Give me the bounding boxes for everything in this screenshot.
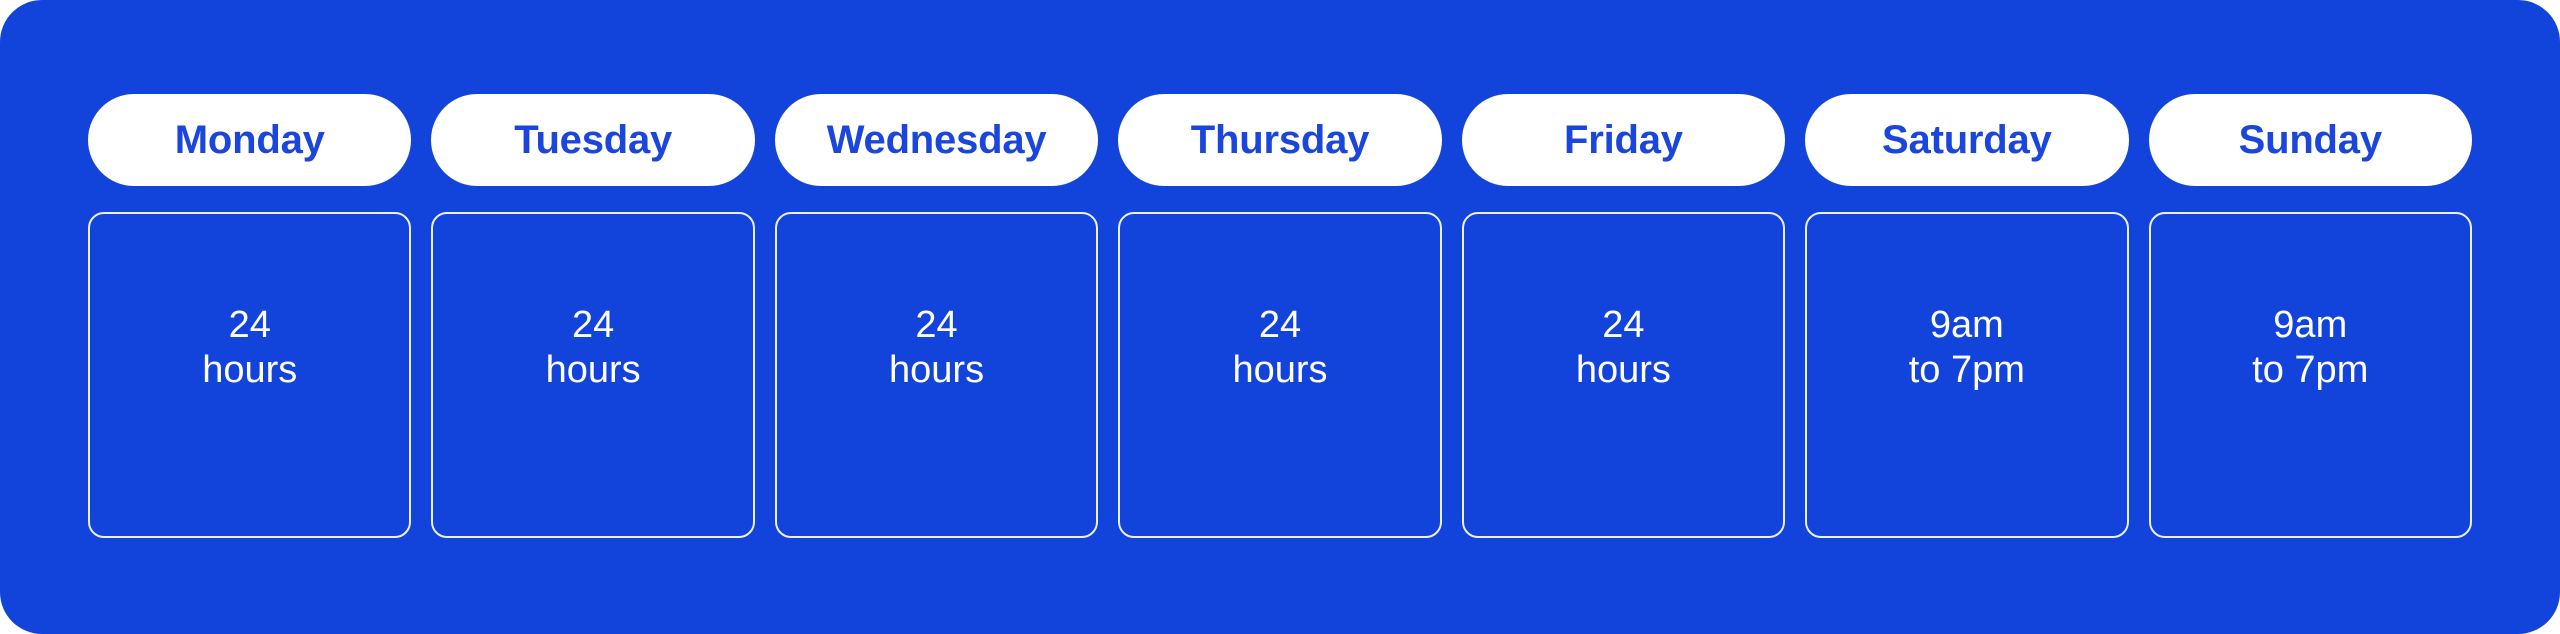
hours-card-wednesday[interactable]: 24 hours xyxy=(775,212,1098,538)
hours-line-2-tuesday: hours xyxy=(546,348,641,393)
day-label-monday: Monday xyxy=(175,120,325,160)
day-pill-saturday[interactable]: Saturday xyxy=(1805,94,2128,186)
opening-hours-panel: Monday 24 hours Tuesday 24 hours Wednesd… xyxy=(0,0,2560,634)
hours-line-2-friday: hours xyxy=(1576,348,1671,393)
hours-text-friday: 24 hours xyxy=(1576,303,1671,393)
day-column-thursday: Thursday 24 hours xyxy=(1118,94,1441,538)
day-pill-sunday[interactable]: Sunday xyxy=(2149,94,2472,186)
hours-text-monday: 24 hours xyxy=(202,303,297,393)
hours-text-thursday: 24 hours xyxy=(1232,303,1327,393)
hours-line-2-thursday: hours xyxy=(1232,348,1327,393)
hours-line-1-monday: 24 xyxy=(202,303,297,348)
day-column-saturday: Saturday 9am to 7pm xyxy=(1805,94,2128,538)
day-pill-monday[interactable]: Monday xyxy=(88,94,411,186)
day-column-sunday: Sunday 9am to 7pm xyxy=(2149,94,2472,538)
hours-line-1-friday: 24 xyxy=(1576,303,1671,348)
hours-text-wednesday: 24 hours xyxy=(889,303,984,393)
hours-text-sunday: 9am to 7pm xyxy=(2252,303,2368,393)
hours-line-1-sunday: 9am xyxy=(2252,303,2368,348)
day-pill-wednesday[interactable]: Wednesday xyxy=(775,94,1098,186)
hours-card-tuesday[interactable]: 24 hours xyxy=(431,212,754,538)
hours-line-1-saturday: 9am xyxy=(1909,303,2025,348)
hours-card-saturday[interactable]: 9am to 7pm xyxy=(1805,212,2128,538)
day-label-friday: Friday xyxy=(1564,120,1683,160)
day-column-tuesday: Tuesday 24 hours xyxy=(431,94,754,538)
hours-line-2-monday: hours xyxy=(202,348,297,393)
day-column-wednesday: Wednesday 24 hours xyxy=(775,94,1098,538)
day-label-saturday: Saturday xyxy=(1882,120,2052,160)
hours-line-1-tuesday: 24 xyxy=(546,303,641,348)
day-label-wednesday: Wednesday xyxy=(827,120,1047,160)
hours-line-2-wednesday: hours xyxy=(889,348,984,393)
hours-card-friday[interactable]: 24 hours xyxy=(1462,212,1785,538)
day-column-friday: Friday 24 hours xyxy=(1462,94,1785,538)
day-pill-thursday[interactable]: Thursday xyxy=(1118,94,1441,186)
hours-line-1-thursday: 24 xyxy=(1232,303,1327,348)
day-pill-friday[interactable]: Friday xyxy=(1462,94,1785,186)
hours-line-2-saturday: to 7pm xyxy=(1909,348,2025,393)
day-label-sunday: Sunday xyxy=(2239,120,2382,160)
day-column-monday: Monday 24 hours xyxy=(88,94,411,538)
hours-line-2-sunday: to 7pm xyxy=(2252,348,2368,393)
day-label-tuesday: Tuesday xyxy=(514,120,672,160)
hours-card-monday[interactable]: 24 hours xyxy=(88,212,411,538)
day-pill-tuesday[interactable]: Tuesday xyxy=(431,94,754,186)
hours-line-1-wednesday: 24 xyxy=(889,303,984,348)
hours-text-saturday: 9am to 7pm xyxy=(1909,303,2025,393)
day-label-thursday: Thursday xyxy=(1191,120,1369,160)
hours-card-sunday[interactable]: 9am to 7pm xyxy=(2149,212,2472,538)
hours-card-thursday[interactable]: 24 hours xyxy=(1118,212,1441,538)
hours-text-tuesday: 24 hours xyxy=(546,303,641,393)
